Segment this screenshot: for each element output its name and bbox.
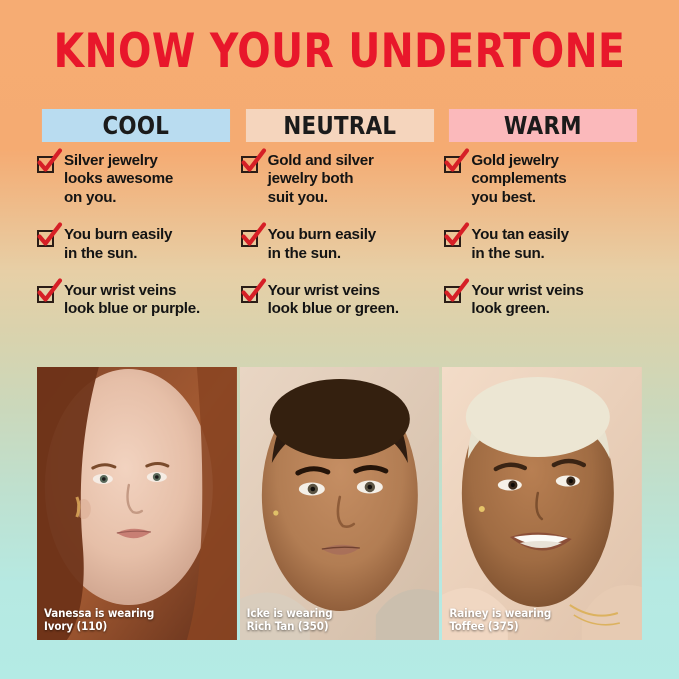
checklist-column-warm: Gold jewelry complements you best. You t… xyxy=(444,152,642,319)
model-photos: Vanessa is wearing Ivory (110) xyxy=(37,367,642,640)
check-item-label: Gold jewelry complements you best. xyxy=(471,152,566,207)
model-photo-icke: Icke is wearing Rich Tan (350) xyxy=(240,367,440,640)
check-item-label: You burn easily in the sun. xyxy=(64,226,172,263)
checklist-columns: Silver jewelry looks awesome on you. You… xyxy=(37,152,642,319)
checkmark-icon xyxy=(443,223,470,250)
checkbox-checked-icon[interactable] xyxy=(444,284,463,303)
photo-caption: Vanessa is wearing Ivory (110) xyxy=(44,607,154,633)
column-header-cool: COOL xyxy=(42,109,230,142)
checkbox-checked-icon[interactable] xyxy=(444,154,463,173)
model-photo-vanessa: Vanessa is wearing Ivory (110) xyxy=(37,367,237,640)
column-header-cool-label: COOL xyxy=(102,111,169,140)
page-title: KNOW YOUR UNDERTONE xyxy=(24,28,655,75)
check-item-label: Your wrist veins look blue or purple. xyxy=(64,282,200,319)
checklist-column-neutral: Gold and silver jewelry both suit you. Y… xyxy=(241,152,439,319)
checkmark-icon xyxy=(36,279,63,306)
check-item-label: You tan easily in the sun. xyxy=(471,226,569,263)
check-item-label: Your wrist veins look blue or green. xyxy=(268,282,399,319)
check-item: You burn easily in the sun. xyxy=(241,226,439,263)
checkbox-checked-icon[interactable] xyxy=(37,154,56,173)
checkmark-icon xyxy=(443,279,470,306)
check-item-label: Your wrist veins look green. xyxy=(471,282,583,319)
undertone-infographic: KNOW YOUR UNDERTONE COOL NEUTRAL WARM Si… xyxy=(0,0,679,679)
photo-caption: Rainey is wearing Toffee (375) xyxy=(449,607,551,633)
checklist-column-cool: Silver jewelry looks awesome on you. You… xyxy=(37,152,235,319)
checkbox-checked-icon[interactable] xyxy=(37,284,56,303)
check-item: Silver jewelry looks awesome on you. xyxy=(37,152,235,207)
checkmark-icon xyxy=(240,279,267,306)
portrait-image-rainey xyxy=(442,367,642,640)
checkmark-icon xyxy=(240,149,267,176)
checkbox-checked-icon[interactable] xyxy=(241,228,260,247)
check-item: Your wrist veins look blue or purple. xyxy=(37,282,235,319)
check-item: You tan easily in the sun. xyxy=(444,226,642,263)
check-item-label: Silver jewelry looks awesome on you. xyxy=(64,152,173,207)
column-headers: COOL NEUTRAL WARM xyxy=(37,109,642,142)
check-item: Gold and silver jewelry both suit you. xyxy=(241,152,439,207)
check-item: You burn easily in the sun. xyxy=(37,226,235,263)
checkbox-checked-icon[interactable] xyxy=(444,228,463,247)
model-photo-rainey: Rainey is wearing Toffee (375) xyxy=(442,367,642,640)
column-header-neutral-label: NEUTRAL xyxy=(283,111,396,140)
check-item: Your wrist veins look green. xyxy=(444,282,642,319)
portrait-image-vanessa xyxy=(37,367,237,640)
checkbox-checked-icon[interactable] xyxy=(241,284,260,303)
check-item: Gold jewelry complements you best. xyxy=(444,152,642,207)
column-header-warm-label: WARM xyxy=(504,111,582,140)
column-header-neutral: NEUTRAL xyxy=(246,109,434,142)
check-item-label: Gold and silver jewelry both suit you. xyxy=(268,152,374,207)
check-item-label: You burn easily in the sun. xyxy=(268,226,376,263)
checkbox-checked-icon[interactable] xyxy=(241,154,260,173)
check-item: Your wrist veins look blue or green. xyxy=(241,282,439,319)
checkbox-checked-icon[interactable] xyxy=(37,228,56,247)
checkmark-icon xyxy=(36,149,63,176)
portrait-image-icke xyxy=(240,367,440,640)
photo-caption: Icke is wearing Rich Tan (350) xyxy=(247,607,333,633)
checkmark-icon xyxy=(443,149,470,176)
checkmark-icon xyxy=(36,223,63,250)
checkmark-icon xyxy=(240,223,267,250)
column-header-warm: WARM xyxy=(449,109,637,142)
